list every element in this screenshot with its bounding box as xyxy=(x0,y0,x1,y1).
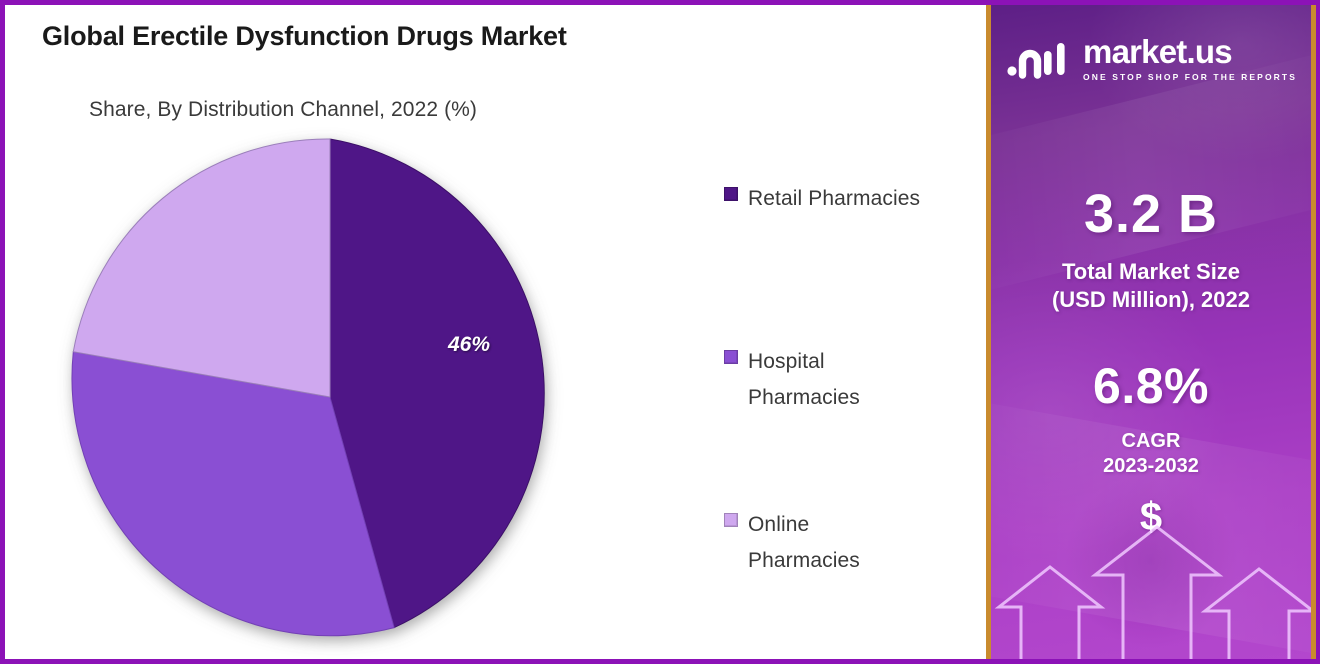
legend-swatch-hospital-pharmacies xyxy=(724,350,738,364)
stats-panel: market.us ONE STOP SHOP FOR THE REPORTS … xyxy=(986,0,1320,664)
infographic-root: Global Erectile Dysfunction Drugs Market… xyxy=(0,0,1320,664)
brand-tagline: ONE STOP SHOP FOR THE REPORTS xyxy=(1083,72,1297,82)
legend-item-retail-pharmacies[interactable]: Retail Pharmacies xyxy=(724,181,920,217)
pie-slice-online-pharmacies[interactable] xyxy=(73,139,330,397)
page-title: Global Erectile Dysfunction Drugs Market xyxy=(42,21,567,52)
legend-label-line2: Pharmacies xyxy=(748,386,860,409)
background-streak-upper xyxy=(991,46,1311,293)
legend-swatch-online-pharmacies xyxy=(724,513,738,527)
cagr-caption-line2: 2023-2032 xyxy=(991,455,1311,478)
cagr-value: 6.8% xyxy=(991,357,1311,415)
up-arrow-icon-left xyxy=(999,567,1101,659)
pie-slices xyxy=(72,139,544,636)
legend-label-hospital-pharmacies: Hospital Pharmacies xyxy=(748,344,860,416)
arrows-svg xyxy=(991,479,1311,659)
chart-panel: Global Erectile Dysfunction Drugs Market… xyxy=(0,0,986,664)
legend-item-online-pharmacies[interactable]: Online Pharmacies xyxy=(724,507,860,579)
market-size-value: 3.2 B xyxy=(991,183,1311,245)
pie-data-label-retail: 46% xyxy=(448,333,490,357)
market-size-caption-line2: (USD Million), 2022 xyxy=(991,287,1311,313)
legend-label-online-pharmacies: Online Pharmacies xyxy=(748,507,860,579)
stats-panel-background: market.us ONE STOP SHOP FOR THE REPORTS … xyxy=(991,5,1311,659)
up-arrow-icon-right xyxy=(1205,569,1311,659)
chart-subtitle: Share, By Distribution Channel, 2022 (%) xyxy=(89,98,477,122)
chart-panel-inner: Global Erectile Dysfunction Drugs Market… xyxy=(5,5,986,659)
cagr-caption-line1: CAGR xyxy=(991,430,1311,453)
brand-text: market.us ONE STOP SHOP FOR THE REPORTS xyxy=(1083,35,1297,82)
legend-label-line1: Online xyxy=(748,513,809,536)
growth-arrows-graphic: $ xyxy=(991,479,1311,659)
legend-label-line2: Pharmacies xyxy=(748,549,860,572)
legend-swatch-retail-pharmacies xyxy=(724,187,738,201)
legend-label-line1: Hospital xyxy=(748,350,825,373)
brand-name: market.us xyxy=(1083,35,1297,68)
pie-chart-svg xyxy=(65,132,595,662)
legend-item-hospital-pharmacies[interactable]: Hospital Pharmacies xyxy=(724,344,860,416)
market-size-caption-line1: Total Market Size xyxy=(991,259,1311,285)
legend-label-retail-pharmacies: Retail Pharmacies xyxy=(748,181,920,217)
brand-logo[interactable]: market.us ONE STOP SHOP FOR THE REPORTS xyxy=(991,35,1311,82)
pie-chart xyxy=(65,132,595,662)
up-arrow-icon-center xyxy=(1095,527,1219,659)
market-us-logo-icon xyxy=(1005,37,1071,81)
